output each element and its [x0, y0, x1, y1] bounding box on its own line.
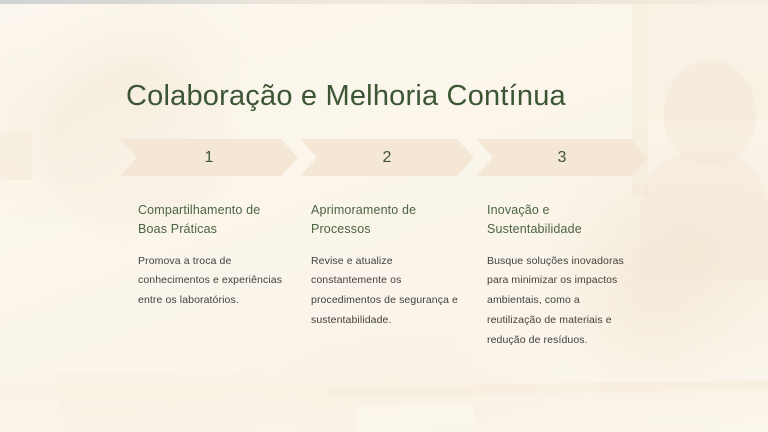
- slide-title: Colaboração e Melhoria Contínua: [126, 80, 566, 113]
- step-column-2: Aprimoramento de Processos Revise e atua…: [311, 201, 459, 331]
- step-heading-1: Compartilhamento de Boas Práticas: [138, 201, 286, 240]
- step-body-3: Busque soluções inovadoras para minimiza…: [487, 252, 635, 351]
- presentation-slide: Colaboração e Melhoria Contínua 1 2 3 Co…: [0, 0, 768, 432]
- step-heading-3: Inovação e Sustentabilidade: [487, 201, 635, 240]
- step-column-1: Compartilhamento de Boas Práticas Promov…: [138, 201, 286, 311]
- step-body-2: Revise e atualize constantemente os proc…: [311, 252, 459, 331]
- step-chevron-band: 1 2 3: [120, 139, 648, 176]
- step-body-1: Promova a troca de conhecimentos e exper…: [138, 252, 286, 311]
- step-number-1: 1: [120, 139, 298, 176]
- step-heading-2: Aprimoramento de Processos: [311, 201, 459, 240]
- step-column-3: Inovação e Sustentabilidade Busque soluç…: [487, 201, 635, 350]
- step-number-2: 2: [300, 139, 474, 176]
- slide-content: Colaboração e Melhoria Contínua 1 2 3 Co…: [0, 0, 768, 432]
- step-number-3: 3: [476, 139, 648, 176]
